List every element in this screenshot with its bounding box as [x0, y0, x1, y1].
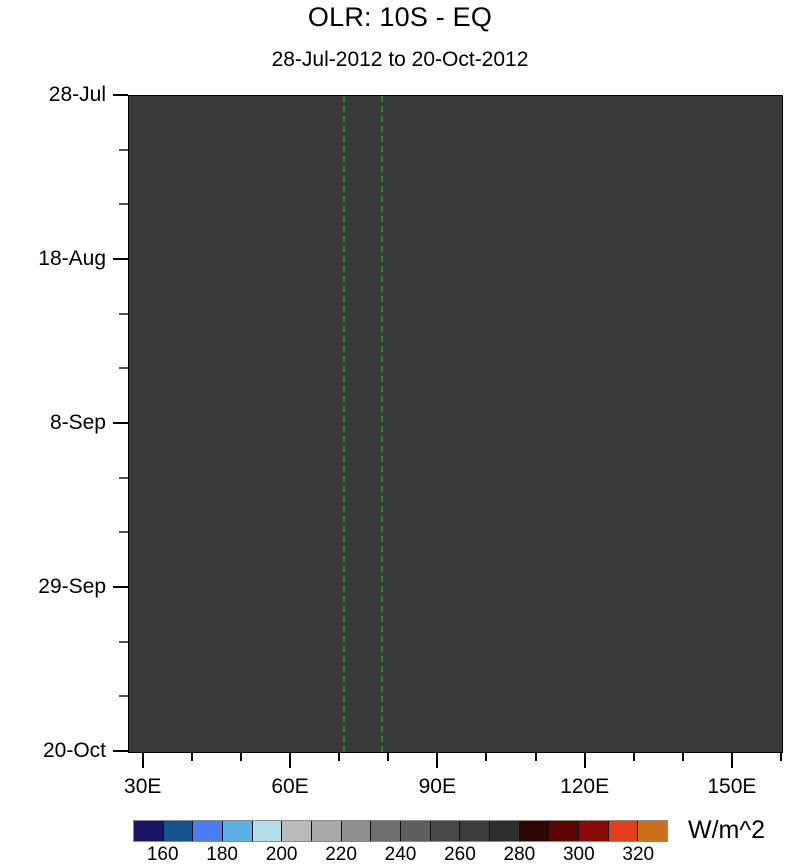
x-axis-tick-label: 120E: [545, 775, 625, 799]
colorbar-tick-label: 200: [252, 844, 312, 866]
x-axis-minor-tick: [780, 753, 782, 761]
x-axis-minor-tick: [387, 753, 389, 761]
figure-subtitle: 28-Jul-2012 to 20-Oct-2012: [0, 48, 800, 72]
y-axis-tick-label: 20-Oct: [0, 739, 106, 763]
y-axis-major-tick: [113, 94, 128, 96]
x-axis-minor-tick: [633, 753, 635, 761]
colorbar-tick-label: 240: [371, 844, 431, 866]
colorbar-tick-label: 320: [608, 844, 668, 866]
x-axis-major-tick: [436, 753, 438, 768]
x-axis-minor-tick: [485, 753, 487, 761]
figure-canvas: OLR: 10S - EQ 28-Jul-2012 to 20-Oct-2012…: [0, 0, 800, 864]
y-axis-tick-label: 29-Sep: [0, 575, 106, 599]
colorbar-unit-label: W/m^2: [688, 816, 765, 845]
x-axis-tick-label: 150E: [692, 775, 772, 799]
colorbar-swatch: [253, 821, 283, 841]
colorbar-swatch: [371, 821, 401, 841]
colorbar-tick-label: 160: [133, 844, 193, 866]
olr-field-raster: [129, 96, 782, 752]
y-axis-minor-tick: [119, 203, 128, 205]
colorbar-tick-label: 300: [549, 844, 609, 866]
y-axis-tick-label: 28-Jul: [0, 83, 106, 107]
y-axis-minor-tick: [119, 531, 128, 533]
y-axis-major-tick: [113, 586, 128, 588]
y-axis-minor-tick: [119, 695, 128, 697]
colorbar-swatch: [431, 821, 461, 841]
colorbar-swatch: [609, 821, 639, 841]
hovmoller-plot-area: [128, 95, 783, 753]
x-axis-minor-tick: [191, 753, 193, 761]
reference-line-west: [343, 96, 345, 752]
colorbar: [133, 820, 668, 842]
colorbar-swatch: [638, 821, 667, 841]
x-axis-major-tick: [584, 753, 586, 768]
colorbar-swatch: [579, 821, 609, 841]
x-axis-minor-tick: [338, 753, 340, 761]
x-axis-major-tick: [731, 753, 733, 768]
colorbar-swatch: [401, 821, 431, 841]
colorbar-swatch: [342, 821, 372, 841]
x-axis-tick-label: 90E: [397, 775, 477, 799]
colorbar-swatch: [164, 821, 194, 841]
colorbar-swatch: [460, 821, 490, 841]
y-axis-minor-tick: [119, 367, 128, 369]
y-axis-minor-tick: [119, 641, 128, 643]
colorbar-swatch: [549, 821, 579, 841]
y-axis-minor-tick: [119, 313, 128, 315]
y-axis-tick-label: 8-Sep: [0, 411, 106, 435]
colorbar-swatch: [223, 821, 253, 841]
y-axis-major-tick: [113, 258, 128, 260]
colorbar-tick-label: 260: [430, 844, 490, 866]
colorbar-swatch: [134, 821, 164, 841]
colorbar-swatch: [282, 821, 312, 841]
colorbar-tick-label: 280: [489, 844, 549, 866]
colorbar-swatch: [490, 821, 520, 841]
colorbar-swatch: [312, 821, 342, 841]
x-axis-major-tick: [142, 753, 144, 768]
figure-title: OLR: 10S - EQ: [0, 2, 800, 33]
x-axis-minor-tick: [535, 753, 537, 761]
colorbar-tick-label: 180: [192, 844, 252, 866]
x-axis-tick-label: 30E: [103, 775, 183, 799]
y-axis-major-tick: [113, 750, 128, 752]
y-axis-minor-tick: [119, 477, 128, 479]
y-axis-tick-label: 18-Aug: [0, 247, 106, 271]
colorbar-tick-label: 220: [311, 844, 371, 866]
reference-line-east: [381, 96, 383, 752]
x-axis-major-tick: [289, 753, 291, 768]
y-axis-major-tick: [113, 422, 128, 424]
olr-contour-field: [129, 96, 782, 752]
colorbar-swatch: [193, 821, 223, 841]
x-axis-tick-label: 60E: [250, 775, 330, 799]
x-axis-minor-tick: [240, 753, 242, 761]
y-axis-minor-tick: [119, 149, 128, 151]
x-axis-minor-tick: [682, 753, 684, 761]
colorbar-swatch: [520, 821, 550, 841]
